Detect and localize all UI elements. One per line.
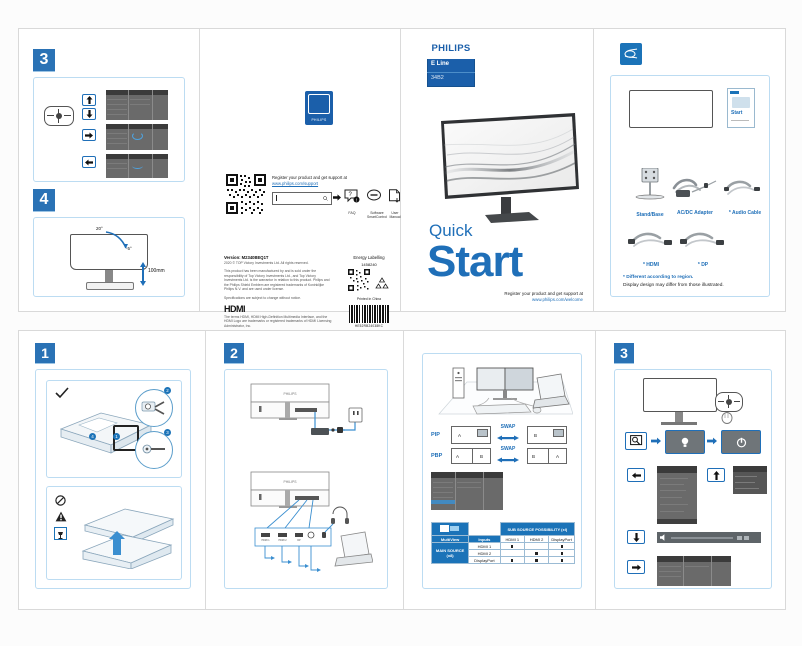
support-qr-code [225, 173, 267, 215]
energy-labelling-title: Energy Labelling [340, 255, 398, 260]
pip-swap-group: SWAP [495, 424, 521, 448]
osd-menu-1 [106, 90, 168, 120]
panel-multiview: PIP A SWAP B PBP [404, 331, 595, 609]
bottom-row-container: 1 [18, 330, 786, 610]
accessory-dp-cable: * DP [677, 226, 729, 268]
search-icon [323, 196, 328, 201]
osd-volume-bar [657, 532, 761, 543]
cell-0-0 [500, 543, 524, 550]
model-code-label: 34B2 [431, 75, 444, 81]
row-input-dp: DisplayPort [469, 557, 500, 564]
panel-hero: PHILIPS E Line 34B2 [401, 29, 593, 311]
svg-text:HDMI 1: HDMI 1 [261, 539, 270, 542]
barcode [340, 305, 398, 323]
panel-accessories: Start Stand/Base [594, 29, 786, 311]
table-row: SUB SOURCE POSSIBILITY (xl) [432, 523, 575, 536]
arrow-right-icon [333, 194, 341, 201]
philips-shield-logo: PHILIPS [305, 91, 333, 125]
panel-step2: 2 PHILIPS [206, 331, 403, 609]
step-badge-4: 4 [33, 189, 55, 211]
multiview-table-wrapper: SUB SOURCE POSSIBILITY (xl) MultiView In… [431, 522, 575, 564]
svg-text:!: ! [356, 198, 357, 203]
swap-arrows-icon [497, 435, 519, 443]
monitor-base [86, 282, 134, 290]
callout-number-1: 1 [113, 433, 120, 440]
pbp-preview-left: A B [451, 448, 491, 464]
key-left-button[interactable] [82, 156, 96, 168]
pbp-swap-group: SWAP [495, 446, 521, 470]
arrow-right-icon-3 [707, 437, 717, 445]
panel-step1: 1 [19, 331, 205, 609]
step1-assembly-ok: 2 3 1 4 [46, 380, 182, 478]
pip-preview-left: A [451, 426, 491, 444]
cell-0-1 [524, 543, 548, 550]
panel-step3-osd: 3 [19, 29, 199, 311]
pip-main-source-b: B [534, 433, 537, 438]
height-arrow-icon [138, 262, 148, 286]
step2-illustration: PHILIPS PHILIPS [224, 369, 388, 589]
software-smartcontrol-icon [366, 189, 382, 204]
osd-menu-2 [106, 124, 168, 150]
step1-warning-panel [46, 486, 182, 580]
cell-1-0 [500, 550, 524, 557]
accessories-illustration: Start Stand/Base [610, 75, 770, 297]
key-right-button[interactable] [82, 129, 96, 141]
pip-preview-right: B [527, 426, 567, 444]
key-up-button-2[interactable] [707, 468, 725, 482]
energy-code: 1458240 [340, 262, 398, 267]
joystick-icon [44, 106, 74, 126]
main-source-header: MAIN SOURCE (x8) [432, 543, 469, 564]
multiview-desk-scene [433, 362, 573, 426]
user-manual-label: User Manual [388, 211, 402, 220]
swap-label-pbp: SWAP [495, 446, 521, 452]
key-left-button-2[interactable] [627, 468, 645, 482]
svg-text:HDMI 2: HDMI 2 [278, 539, 287, 542]
col-header-hdmi1: HDMI 1 [500, 536, 524, 543]
step4-illustration: 20° -5° 100mm [33, 217, 185, 297]
source-button[interactable] [625, 432, 647, 450]
accessory-stand-base: Stand/Base [631, 168, 669, 218]
quick-start-sheet: 3 [0, 0, 802, 646]
swap-label-pip: SWAP [495, 424, 521, 430]
cell-1-1 [524, 550, 548, 557]
software-smartcontrol-group[interactable]: Software SmartControl [366, 189, 388, 220]
pbp-swapped-a: A [556, 454, 559, 459]
pbp-source-a: A [456, 454, 459, 459]
key-down-button-2[interactable] [627, 530, 645, 544]
product-line-label: E Line [431, 61, 449, 67]
cell-1-2 [549, 550, 575, 557]
arrow-right-icon-2 [651, 437, 661, 445]
source-search-icon [630, 435, 643, 447]
row-input-hdmi1: HDMI 1 [469, 543, 500, 550]
accessory-monitor-panel [629, 90, 713, 128]
warning-icon [55, 511, 67, 522]
top-row-container: 3 [18, 28, 786, 312]
panel-register-legal: PHILIPS [200, 29, 400, 311]
hdmi-note: The terms HDMI, HDMI High-Definition Mul… [224, 315, 334, 328]
step-badge-1: 1 [35, 343, 55, 363]
support-headline: Register your product and get support at [272, 175, 347, 181]
monitor-base-2 [661, 422, 697, 425]
monitor-neck-2 [675, 412, 683, 422]
table-row: MultiView Inputs HDMI 1 HDMI 2 DisplayPo… [432, 536, 575, 543]
copyright-text: 2020 © TOP Victory Investments Ltd. All … [224, 261, 334, 265]
barcode-number: HE52RB24038KC [340, 324, 398, 328]
io-connection-diagram: PHILIPS [249, 470, 373, 582]
accessories-box-icon [620, 43, 642, 65]
speaker-icon [660, 534, 668, 541]
svg-text:PHILIPS: PHILIPS [283, 480, 297, 484]
printed-in-label: Printed in China [340, 297, 398, 301]
accessories-footnote-1: * Different according to region. [623, 275, 693, 280]
pbp-swapped-b: B [532, 454, 535, 459]
energy-qr-code [348, 269, 370, 291]
faq-icon-group[interactable]: ? ! FAQ [344, 189, 362, 215]
legal-paragraph-1: This product has been manufactured by an… [224, 269, 334, 291]
accessory-audio-cable: * Audio Cable [721, 172, 769, 216]
philips-product-plate: PHILIPS E Line 34B2 [427, 39, 475, 87]
cell-2-0 [500, 557, 524, 564]
cell-2-2 [549, 557, 575, 564]
table-row: MAIN SOURCE (x8) HDMI 1 [432, 543, 575, 550]
step3-nav-illustration [614, 369, 772, 589]
tilt-arc-icon [104, 230, 132, 252]
svg-text:DP: DP [297, 539, 301, 542]
pbp-label: PBP [431, 453, 442, 459]
callout-detail-2 [135, 389, 173, 427]
user-manual-icon [388, 189, 402, 204]
hdmi-cable-label: * HDMI [625, 262, 677, 268]
software-smartcontrol-label: Software SmartControl [366, 211, 388, 220]
checkmark-icon [55, 387, 69, 399]
stand-base-label: Stand/Base [631, 212, 669, 218]
dp-cable-label: * DP [677, 262, 729, 268]
sub-source-header: SUB SOURCE POSSIBILITY (xl) [500, 523, 574, 536]
callout-number-2: 2 [164, 387, 171, 394]
callout-number-4: 4 [89, 433, 96, 440]
step3-illustration [33, 77, 185, 182]
multiview-corner-label: MultiView [432, 536, 469, 543]
pip-main-source-a: A [458, 433, 461, 438]
osd-menu-3 [106, 154, 168, 178]
fragile-icon [54, 527, 67, 540]
faq-label: FAQ [344, 211, 360, 215]
step-badge-2: 2 [224, 343, 244, 363]
power-connection-diagram: PHILIPS [249, 382, 369, 448]
philips-wordmark: PHILIPS [427, 39, 475, 59]
col-header-hdmi2: HDMI 2 [524, 536, 548, 543]
row-input-hdmi2: HDMI 2 [469, 550, 500, 557]
osd-main-menu [657, 466, 697, 524]
key-right-button-2[interactable] [627, 560, 645, 574]
step-badge-3: 3 [33, 49, 55, 71]
osd-input-menu [733, 466, 767, 494]
tilt-up-label: 20° [96, 226, 103, 231]
key-up-button[interactable] [82, 94, 96, 106]
support-url: www.philips.com/support [272, 181, 318, 187]
multiview-illustration: PIP A SWAP B PBP [422, 353, 582, 589]
pbp-source-b: B [480, 454, 483, 459]
pbp-preview-right: B A [527, 448, 567, 464]
version-text: Version: M2340BEQ1T [224, 255, 334, 260]
swap-arrows-icon-2 [497, 457, 519, 465]
legal-paragraph-2: Specifications are subject to change wit… [224, 296, 334, 300]
accessories-footnote-2: Display design may differ from those ill… [623, 283, 724, 288]
monitor-front-view [643, 378, 717, 412]
hero-monitor-image [435, 111, 583, 223]
power-button[interactable] [721, 430, 761, 454]
callout-detail-3 [135, 431, 173, 469]
quick-start-guide-label: Start [731, 110, 742, 116]
welcome-note-url[interactable]: www.philips.com/welcome [433, 297, 583, 303]
accessory-hdmi-cable: * HDMI [625, 226, 677, 268]
multiview-table: SUB SOURCE POSSIBILITY (xl) MultiView In… [431, 522, 575, 564]
cell-0-2 [549, 543, 575, 550]
power-icon [736, 437, 747, 448]
hdmi-logo: HDMI [224, 304, 334, 314]
svg-text:PHILIPS: PHILIPS [283, 392, 297, 396]
multiview-osd-menu [431, 472, 503, 510]
step-badge-3b: 3 [614, 343, 634, 363]
joystick-icon-2[interactable] [715, 392, 743, 412]
col-header-dp: DisplayPort [549, 536, 575, 543]
height-adjust-label: 100mm [148, 268, 165, 274]
recycle-icon [374, 277, 390, 291]
ac-dc-adapter-label: AC/DC Adapter [669, 210, 721, 216]
multiview-logo-cell [432, 523, 469, 536]
cell-2-1 [524, 557, 548, 564]
osd-submenu [657, 556, 731, 586]
start-word: Start [427, 237, 522, 287]
faq-icon: ? ! [344, 189, 360, 204]
hand-icon [719, 410, 735, 424]
key-down-button[interactable] [82, 108, 96, 120]
audio-cable-label: * Audio Cable [721, 210, 769, 216]
prohibited-icon [55, 495, 66, 506]
inputs-header: Inputs [469, 536, 500, 543]
panel-step3-nav: 3 [596, 331, 786, 609]
search-input[interactable] [272, 192, 332, 205]
accessory-quick-start-guide: Start [727, 88, 755, 128]
svg-text:?: ? [349, 192, 353, 198]
brightness-icon [680, 436, 690, 449]
accessory-ac-dc-adapter: AC/DC Adapter [669, 172, 721, 216]
callout-number-3: 3 [164, 429, 171, 436]
pip-label: PIP [431, 432, 440, 438]
brightness-button[interactable] [665, 430, 705, 454]
step1-illustration: 2 3 1 4 [35, 369, 191, 589]
